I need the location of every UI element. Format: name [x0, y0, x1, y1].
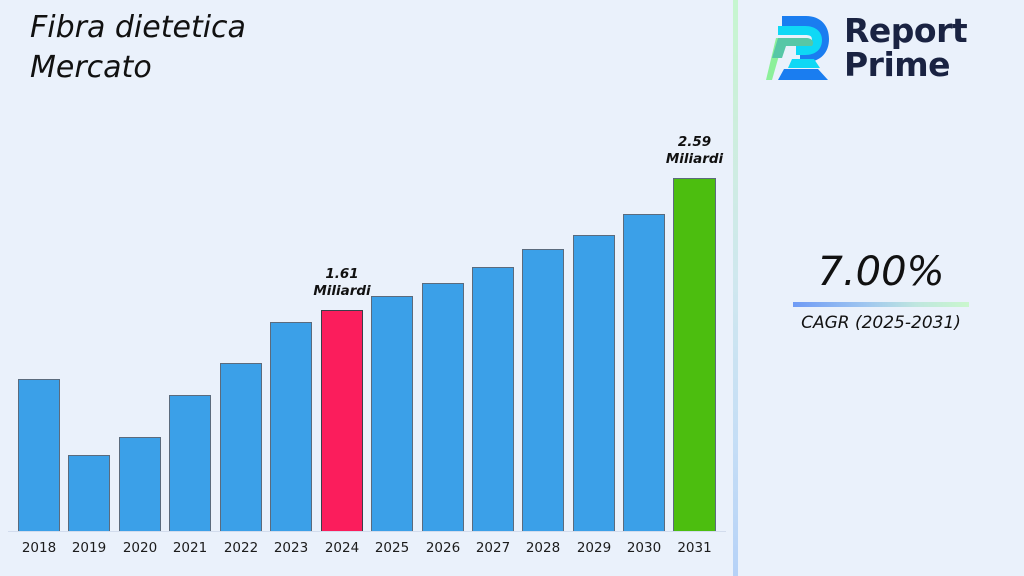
x-tick-2029: 2029 [568, 540, 620, 556]
bar-2027 [472, 267, 514, 531]
x-tick-2031: 2031 [669, 540, 721, 556]
bar-2030 [623, 214, 665, 531]
bar-2026 [422, 283, 464, 531]
report-prime-r-logo-icon [766, 12, 832, 84]
x-tick-2028: 2028 [517, 540, 569, 556]
x-axis-line [8, 531, 726, 532]
bar-2024 [321, 310, 363, 531]
x-tick-2025: 2025 [366, 540, 418, 556]
x-tick-2019: 2019 [63, 540, 115, 556]
cagr-divider [793, 302, 969, 307]
x-tick-2026: 2026 [417, 540, 469, 556]
x-tick-2024: 2024 [316, 540, 368, 556]
x-tick-2021: 2021 [164, 540, 216, 556]
bar-2025 [371, 296, 413, 531]
brand-name: Report Prime [844, 14, 967, 81]
x-tick-2023: 2023 [265, 540, 317, 556]
bar-2019 [68, 455, 110, 531]
bar-2020 [119, 437, 161, 531]
bar-2021 [169, 395, 211, 531]
bar-chart-plot: 1.61 Miliardi2.59 Miliardi 2018201920202… [0, 0, 733, 576]
bar-2018 [18, 379, 60, 531]
bar-2028 [522, 249, 564, 531]
brand-logo: Report Prime [766, 12, 967, 84]
cagr-block: 7.00% CAGR (2025-2031) [738, 250, 1024, 333]
cagr-value: 7.00% [738, 250, 1024, 294]
bar-2023 [270, 322, 312, 531]
x-tick-2030: 2030 [618, 540, 670, 556]
bar-2022 [220, 363, 262, 531]
x-tick-2020: 2020 [114, 540, 166, 556]
cagr-caption: CAGR (2025-2031) [738, 313, 1024, 333]
chart-screenshot: Fibra dietetica Mercato 1.61 Miliardi2.5… [0, 0, 1024, 576]
bar-2029 [573, 235, 615, 531]
x-tick-2027: 2027 [467, 540, 519, 556]
x-tick-2018: 2018 [13, 540, 65, 556]
bar-2031 [673, 178, 716, 531]
right-panel: Report Prime 7.00% CAGR (2025-2031) [738, 0, 1024, 576]
x-tick-2022: 2022 [215, 540, 267, 556]
